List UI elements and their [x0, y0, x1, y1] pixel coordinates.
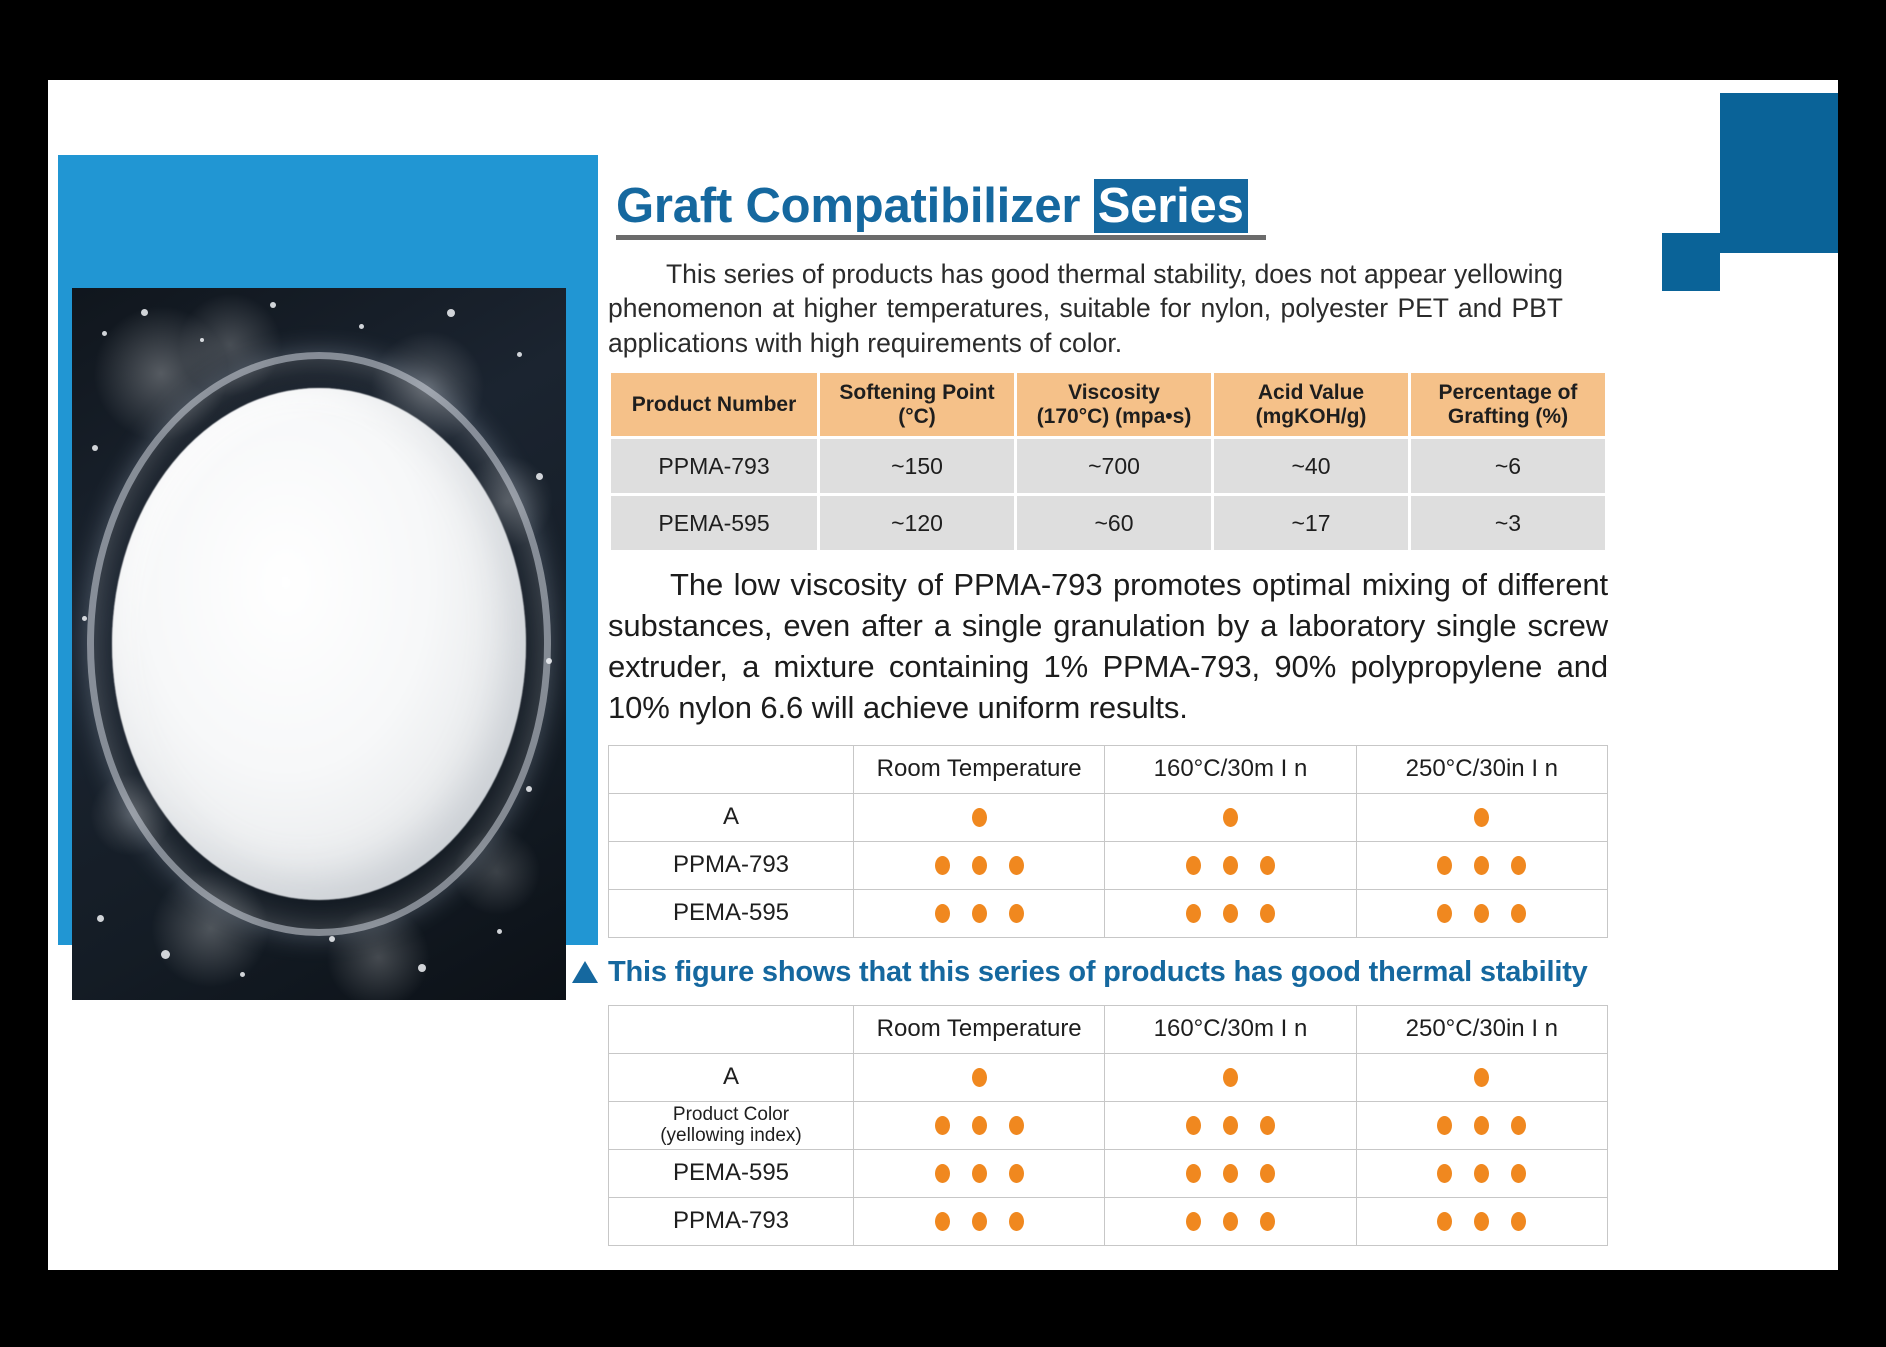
powder-speck — [329, 936, 335, 942]
dot-cell — [1105, 1101, 1356, 1149]
title-block: Graft Compatibilizer Series — [608, 180, 1788, 240]
orange-dot-icon — [1260, 904, 1275, 923]
dot-group — [1357, 1164, 1607, 1183]
product-photo-white-powder — [72, 288, 566, 1000]
orange-dot-icon — [1260, 1212, 1275, 1231]
orange-dot-icon — [972, 1068, 987, 1087]
table-row: PEMA-595 ~120 ~60 ~17 ~3 — [611, 496, 1605, 550]
dot2-header-blank — [609, 1005, 854, 1053]
spec-header-percentage-grafting: Percentage ofGrafting (%) — [1411, 373, 1605, 436]
title-main-text: Graft Compatibilizer — [616, 179, 1080, 233]
powder-speck — [359, 324, 364, 329]
powder-speck — [270, 302, 276, 308]
triangle-bullet-icon — [572, 961, 598, 983]
dot-cell — [854, 1197, 1105, 1245]
dot-cell — [1105, 1149, 1356, 1197]
orange-dot-icon — [1009, 1116, 1024, 1135]
dot2-header-160c: 160°C/30m I n — [1105, 1005, 1356, 1053]
orange-dot-icon — [1260, 1164, 1275, 1183]
spec-cell-grafting: ~6 — [1411, 439, 1605, 493]
specification-table: Product Number Softening Point(°C) Visco… — [608, 370, 1608, 553]
powder-speck — [497, 929, 502, 934]
orange-dot-icon — [1474, 904, 1489, 923]
powder-speck — [240, 972, 245, 977]
table-row: PEMA-595 — [609, 889, 1608, 937]
dot-row-label: PEMA-595 — [609, 889, 854, 937]
table-header-row: Product Number Softening Point(°C) Visco… — [611, 373, 1605, 436]
orange-dot-icon — [1511, 904, 1526, 923]
orange-dot-icon — [972, 1212, 987, 1231]
dot-group — [854, 1116, 1104, 1135]
table-row: PPMA-793 — [609, 1197, 1608, 1245]
orange-dot-icon — [1511, 1116, 1526, 1135]
orange-dot-icon — [1437, 1212, 1452, 1231]
orange-dot-icon — [972, 1116, 987, 1135]
powder-speck — [517, 352, 522, 357]
spec-header-product-number: Product Number — [611, 373, 817, 436]
orange-dot-icon — [1511, 1212, 1526, 1231]
orange-dot-icon — [1009, 1212, 1024, 1231]
dot-cell — [1105, 1197, 1356, 1245]
dot-cell — [1356, 1197, 1607, 1245]
spec-cell-acid: ~40 — [1214, 439, 1408, 493]
dot1-body: APPMA-793PEMA-595 — [609, 793, 1608, 937]
dot-cell — [854, 1149, 1105, 1197]
orange-dot-icon — [1474, 1068, 1489, 1087]
page-title: Graft Compatibilizer Series — [616, 180, 1788, 233]
dot-cell — [854, 1101, 1105, 1149]
dot-group — [1357, 904, 1607, 923]
orange-dot-icon — [1511, 1164, 1526, 1183]
dot-group — [854, 856, 1104, 875]
spec-header-softening-point: Softening Point(°C) — [820, 373, 1014, 436]
intro-paragraph: This series of products has good thermal… — [608, 257, 1563, 360]
orange-dot-icon — [1186, 1212, 1201, 1231]
dot-row-label: Product Color(yellowing index) — [609, 1101, 854, 1149]
table-row: A — [609, 1053, 1608, 1101]
powder-speck — [546, 658, 552, 664]
orange-dot-icon — [1223, 904, 1238, 923]
orange-dot-icon — [1186, 856, 1201, 875]
orange-dot-icon — [935, 856, 950, 875]
orange-dot-icon — [1009, 856, 1024, 875]
spec-cell-product: PEMA-595 — [611, 496, 817, 550]
orange-dot-icon — [1009, 1164, 1024, 1183]
dot2-body: AProduct Color(yellowing index)PEMA-595P… — [609, 1053, 1608, 1245]
dot-cell — [1356, 841, 1607, 889]
orange-dot-icon — [1260, 856, 1275, 875]
table-header-row: Room Temperature 160°C/30m I n 250°C/30i… — [609, 1005, 1608, 1053]
dot-group — [1357, 808, 1607, 827]
orange-dot-icon — [1437, 856, 1452, 875]
orange-dot-icon — [1474, 1116, 1489, 1135]
orange-dot-icon — [935, 904, 950, 923]
spec-cell-softening: ~120 — [820, 496, 1014, 550]
table-row: A — [609, 793, 1608, 841]
orange-dot-icon — [935, 1164, 950, 1183]
dot-row-label: PEMA-595 — [609, 1149, 854, 1197]
dot-cell — [1105, 889, 1356, 937]
content-column: Graft Compatibilizer Series This series … — [608, 180, 1788, 1246]
dot-group — [1105, 1164, 1355, 1183]
dot-row-label: A — [609, 793, 854, 841]
viscosity-paragraph: The low viscosity of PPMA-793 promotes o… — [608, 565, 1608, 729]
spec-cell-grafting: ~3 — [1411, 496, 1605, 550]
dot-cell — [1105, 1053, 1356, 1101]
caption-text: This figure shows that this series of pr… — [608, 956, 1588, 989]
powder-speck — [418, 964, 426, 972]
table-row: PPMA-793 ~150 ~700 ~40 ~6 — [611, 439, 1605, 493]
orange-dot-icon — [1009, 904, 1024, 923]
orange-dot-icon — [1223, 808, 1238, 827]
orange-dot-icon — [1437, 1116, 1452, 1135]
dot2-header-room-temperature: Room Temperature — [854, 1005, 1105, 1053]
spec-cell-softening: ~150 — [820, 439, 1014, 493]
orange-dot-icon — [1474, 1212, 1489, 1231]
orange-dot-icon — [972, 808, 987, 827]
dot-cell — [1105, 793, 1356, 841]
spec-cell-acid: ~17 — [1214, 496, 1408, 550]
title-underline-rule — [616, 235, 1266, 240]
spec-cell-viscosity: ~60 — [1017, 496, 1211, 550]
orange-dot-icon — [1437, 904, 1452, 923]
orange-dot-icon — [935, 1212, 950, 1231]
dot2-header-250c: 250°C/30in I n — [1356, 1005, 1607, 1053]
orange-dot-icon — [1474, 856, 1489, 875]
orange-dot-icon — [1474, 1164, 1489, 1183]
dot1-header-250c: 250°C/30in I n — [1356, 745, 1607, 793]
orange-dot-icon — [1186, 1116, 1201, 1135]
spec-header-acid-value: Acid Value(mgKOH/g) — [1214, 373, 1408, 436]
orange-dot-icon — [1223, 1212, 1238, 1231]
dot1-header-blank — [609, 745, 854, 793]
dot-cell — [1356, 1149, 1607, 1197]
powder-speck — [161, 950, 170, 959]
orange-dot-icon — [1223, 1068, 1238, 1087]
dot-cell — [1356, 1101, 1607, 1149]
orange-dot-icon — [972, 904, 987, 923]
dot-group — [1105, 904, 1355, 923]
table-row: PEMA-595 — [609, 1149, 1608, 1197]
title-highlight-text: Series — [1094, 179, 1248, 233]
powder-speck — [447, 309, 455, 317]
dot-group — [854, 808, 1104, 827]
orange-dot-icon — [972, 1164, 987, 1183]
orange-dot-icon — [1186, 1164, 1201, 1183]
dot-row-label: PPMA-793 — [609, 1197, 854, 1245]
dot-cell — [854, 889, 1105, 937]
powder-speck — [526, 786, 532, 792]
dot-cell — [1356, 1053, 1607, 1101]
dot-group — [1105, 808, 1355, 827]
dot-cell — [854, 841, 1105, 889]
thermal-stability-table-1: Room Temperature 160°C/30m I n 250°C/30i… — [608, 745, 1608, 938]
dot-group — [1105, 1116, 1355, 1135]
orange-dot-icon — [1186, 904, 1201, 923]
dot-row-label: PPMA-793 — [609, 841, 854, 889]
spec-header-viscosity: Viscosity(170°C) (mpa•s) — [1017, 373, 1211, 436]
powder-speck — [97, 915, 104, 922]
dot-group — [1357, 856, 1607, 875]
dot1-header-160c: 160°C/30m I n — [1105, 745, 1356, 793]
dot-group — [1105, 856, 1355, 875]
dot-group — [854, 1212, 1104, 1231]
thermal-stability-table-2: Room Temperature 160°C/30m I n 250°C/30i… — [608, 1005, 1608, 1246]
orange-dot-icon — [935, 1116, 950, 1135]
powder-speck — [200, 338, 204, 342]
dot-group — [854, 1068, 1104, 1087]
table-row: PPMA-793 — [609, 841, 1608, 889]
powder-speck — [102, 331, 107, 336]
dot-row-label: A — [609, 1053, 854, 1101]
table-header-row: Room Temperature 160°C/30m I n 250°C/30i… — [609, 745, 1608, 793]
dot-cell — [854, 793, 1105, 841]
orange-dot-icon — [972, 856, 987, 875]
spec-cell-product: PPMA-793 — [611, 439, 817, 493]
orange-dot-icon — [1223, 1116, 1238, 1135]
powder-speck — [82, 616, 87, 621]
orange-dot-icon — [1437, 1164, 1452, 1183]
orange-dot-icon — [1511, 856, 1526, 875]
slide-canvas: Graft Compatibilizer Series This series … — [48, 80, 1838, 1270]
dot-group — [854, 1164, 1104, 1183]
dot-group — [1357, 1116, 1607, 1135]
dot1-header-room-temperature: Room Temperature — [854, 745, 1105, 793]
orange-dot-icon — [1223, 856, 1238, 875]
dot-group — [854, 904, 1104, 923]
orange-dot-icon — [1223, 1164, 1238, 1183]
powder-speck — [536, 473, 543, 480]
powder-speck — [141, 309, 148, 316]
dot-group — [1357, 1212, 1607, 1231]
orange-dot-icon — [1474, 808, 1489, 827]
dot-cell — [854, 1053, 1105, 1101]
dot-group — [1357, 1068, 1607, 1087]
figure-caption: This figure shows that this series of pr… — [572, 956, 1788, 989]
table-row: Product Color(yellowing index) — [609, 1101, 1608, 1149]
white-powder-mound — [112, 388, 527, 901]
dot-group — [1105, 1212, 1355, 1231]
spec-cell-viscosity: ~700 — [1017, 439, 1211, 493]
dot-cell — [1105, 841, 1356, 889]
powder-speck — [92, 445, 98, 451]
dot-group — [1105, 1068, 1355, 1087]
orange-dot-icon — [1260, 1116, 1275, 1135]
dot-cell — [1356, 793, 1607, 841]
dot-cell — [1356, 889, 1607, 937]
